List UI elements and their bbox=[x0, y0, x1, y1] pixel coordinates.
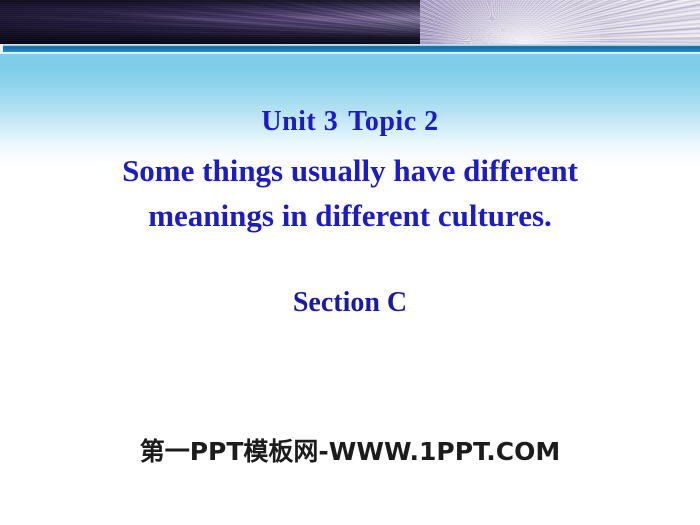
unit-label: Unit 3 bbox=[261, 106, 338, 137]
watermark-text: 第一PPT模板网-WWW.1PPT.COM bbox=[0, 437, 700, 467]
banner-highlight-glow bbox=[430, 0, 600, 44]
lesson-title-line-2: meanings in different cultures. bbox=[0, 197, 700, 235]
book-pages-banner-image bbox=[0, 0, 700, 44]
presentation-slide: Unit 3Topic 2 Some things usually have d… bbox=[0, 0, 700, 525]
lesson-title-line-1: Some things usually have different bbox=[0, 152, 700, 190]
divider-highlight-bottom bbox=[0, 52, 700, 54]
topic-label: Topic 2 bbox=[348, 106, 438, 137]
unit-topic-line: Unit 3Topic 2 bbox=[0, 105, 700, 139]
section-label: Section C bbox=[0, 285, 700, 321]
divider-left-cap bbox=[0, 44, 3, 54]
